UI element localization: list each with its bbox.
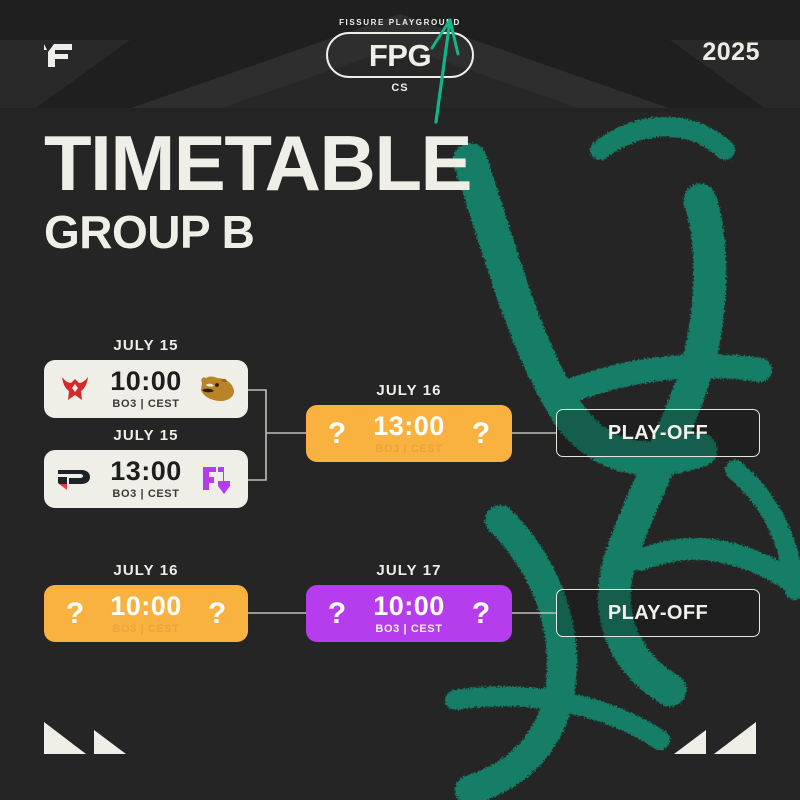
match-card-lb-final[interactable]: ? 10:00 BO3 | CEST ? bbox=[306, 585, 512, 642]
match-meta-lb-m1: BO3 | CEST bbox=[112, 623, 179, 635]
bracket: JULY 15 10:00 BO3 | CEST bbox=[0, 0, 800, 800]
match-meta-ub-m1: BO3 | CEST bbox=[112, 398, 179, 410]
team-red-horns-logo-icon bbox=[58, 372, 92, 406]
match-date-ub-m1: JULY 15 bbox=[44, 337, 248, 354]
playoff-label: PLAY-OFF bbox=[608, 602, 708, 625]
team-slot-left-lb-final[interactable]: ? bbox=[306, 585, 368, 642]
match-card-ub-final[interactable]: ? 13:00 BO3 | CEST ? bbox=[306, 405, 512, 462]
match-time-lb-final: 10:00 bbox=[373, 593, 445, 620]
match-time-lb-m1: 10:00 bbox=[110, 593, 182, 620]
match-info-ub-m1: 10:00 BO3 | CEST bbox=[106, 368, 186, 410]
match-time-ub-m1: 10:00 bbox=[110, 368, 182, 395]
match-meta-lb-final: BO3 | CEST bbox=[375, 623, 442, 635]
tbd-placeholder: ? bbox=[66, 599, 84, 629]
match-info-lb-final: 10:00 BO3 | CEST bbox=[368, 593, 450, 635]
match-meta-ub-final: BO3 | CEST bbox=[375, 443, 442, 455]
tbd-placeholder: ? bbox=[472, 599, 490, 629]
team-slot-right-ub-final[interactable]: ? bbox=[450, 405, 512, 462]
match-meta-ub-m2: BO3 | CEST bbox=[112, 488, 179, 500]
match-info-ub-final: 13:00 BO3 | CEST bbox=[368, 413, 450, 455]
tbd-placeholder: ? bbox=[208, 599, 226, 629]
team-purple-r-logo-icon bbox=[200, 463, 234, 495]
tbd-placeholder: ? bbox=[472, 419, 490, 449]
match-card-ub-m2[interactable]: 13:00 BO3 | CEST bbox=[44, 450, 248, 508]
match-date-lb-final: JULY 17 bbox=[306, 562, 512, 579]
team-bear-logo-icon bbox=[197, 373, 237, 405]
team-slot-right-ub-m2[interactable] bbox=[186, 450, 248, 508]
team-slot-left-ub-m1[interactable] bbox=[44, 360, 106, 418]
team-slot-left-lb-m1[interactable]: ? bbox=[44, 585, 106, 642]
playoff-label: PLAY-OFF bbox=[608, 422, 708, 445]
playoff-qualifier-upper[interactable]: PLAY-OFF bbox=[556, 409, 760, 457]
match-info-ub-m2: 13:00 BO3 | CEST bbox=[106, 458, 186, 500]
playoff-qualifier-lower[interactable]: PLAY-OFF bbox=[556, 589, 760, 637]
match-card-lb-m1[interactable]: ? 10:00 BO3 | CEST ? bbox=[44, 585, 248, 642]
match-date-ub-m2: JULY 15 bbox=[44, 427, 248, 444]
match-date-ub-final: JULY 16 bbox=[306, 382, 512, 399]
tbd-placeholder: ? bbox=[328, 599, 346, 629]
team-slot-left-ub-final[interactable]: ? bbox=[306, 405, 368, 462]
timetable-poster: FISSURE PLAYGROUND FPG CS 2025 TIMETABLE… bbox=[0, 0, 800, 800]
team-slot-right-lb-m1[interactable]: ? bbox=[186, 585, 248, 642]
match-time-ub-m2: 13:00 bbox=[110, 458, 182, 485]
match-info-lb-m1: 10:00 BO3 | CEST bbox=[106, 593, 186, 635]
team-slot-right-lb-final[interactable]: ? bbox=[450, 585, 512, 642]
team-slot-right-ub-m1[interactable] bbox=[186, 360, 248, 418]
match-card-ub-m1[interactable]: 10:00 BO3 | CEST bbox=[44, 360, 248, 418]
match-date-lb-m1: JULY 16 bbox=[44, 562, 248, 579]
match-time-ub-final: 13:00 bbox=[373, 413, 445, 440]
tbd-placeholder: ? bbox=[328, 419, 346, 449]
team-pain-logo-icon bbox=[55, 464, 95, 494]
team-slot-left-ub-m2[interactable] bbox=[44, 450, 106, 508]
